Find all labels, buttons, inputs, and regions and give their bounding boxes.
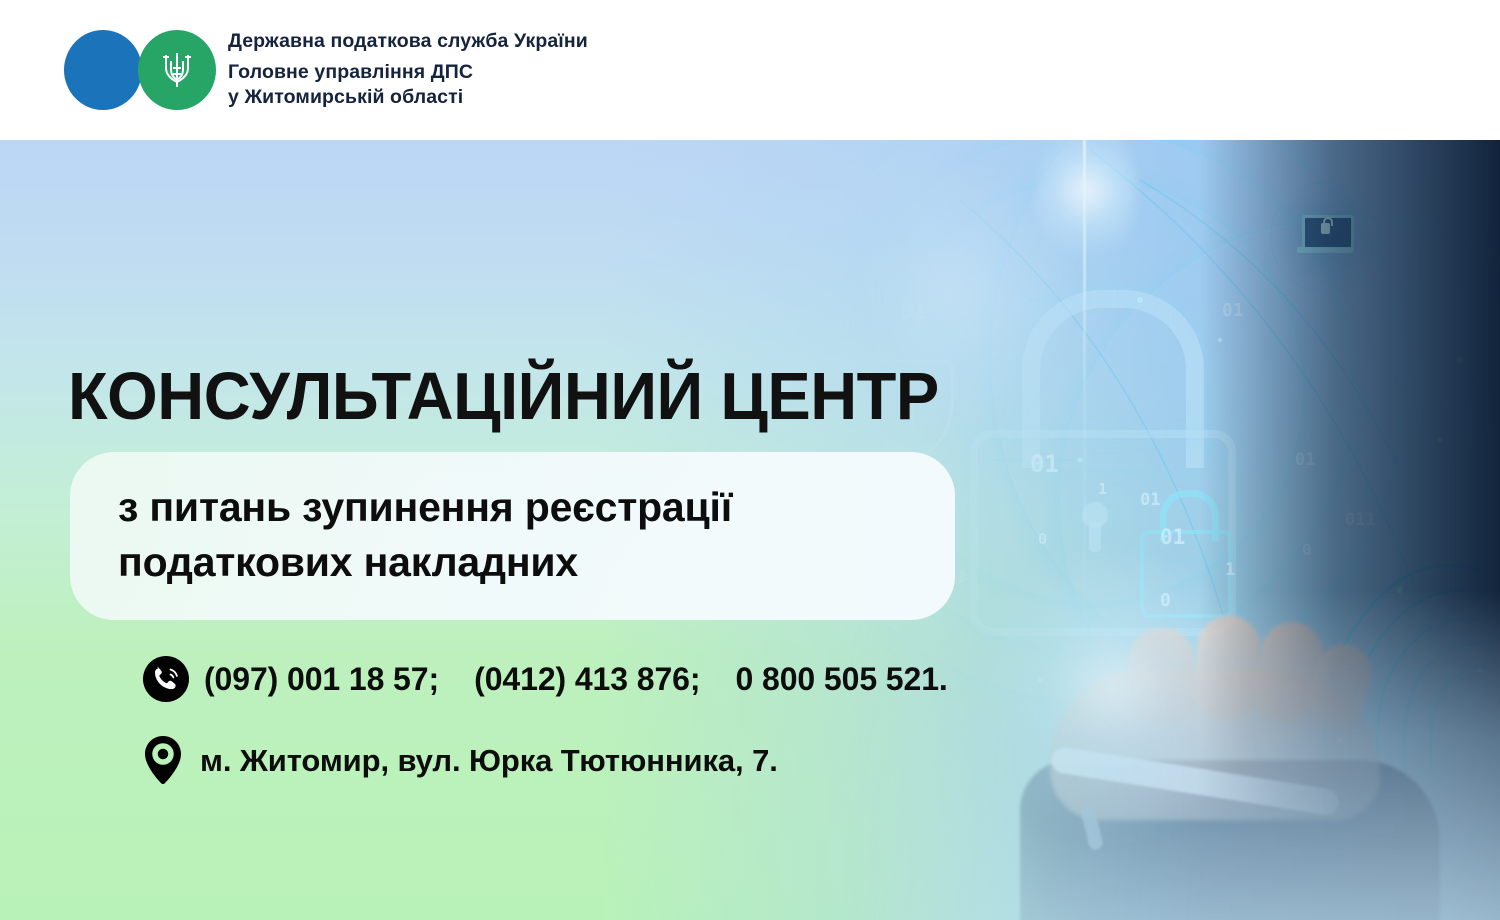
contact-address-row[interactable]: м. Житомир, вул. Юрка Тютюнника, 7.	[142, 735, 778, 787]
phone-numbers: (097) 001 18 57; (0412) 413 876; 0 800 5…	[204, 661, 948, 698]
organization-logo	[64, 30, 214, 110]
organization-name-block: Державна податкова служба України Головн…	[228, 29, 588, 111]
page-title: КОНСУЛЬТАЦІЙНИЙ ЦЕНТР	[68, 358, 939, 435]
org-title-line-1: Державна податкова служба України	[228, 29, 588, 55]
org-title-line-2: Головне управління ДПС	[228, 60, 588, 86]
poster-canvas: 01 01 01 01 1 01 01 011 0 0 1 0 0 0	[0, 140, 1500, 920]
logo-blue-circle-icon	[64, 30, 142, 110]
phone-call-icon	[142, 655, 204, 703]
contact-phone-row[interactable]: (097) 001 18 57; (0412) 413 876; 0 800 5…	[142, 655, 948, 703]
org-title-line-3: у Житомирській області	[228, 85, 588, 111]
ukraine-trident-icon	[160, 48, 194, 92]
logo-green-circle-icon	[138, 30, 216, 110]
header-bar: Державна податкова служба України Головн…	[0, 0, 1500, 140]
subtitle-line-1: з питань зупинення реєстрації	[118, 480, 915, 535]
poster-root: Державна податкова служба України Головн…	[0, 0, 1500, 920]
subtitle-line-2: податкових накладних	[118, 535, 915, 590]
subtitle-card: з питань зупинення реєстрації податкових…	[70, 452, 955, 620]
map-pin-icon	[142, 735, 200, 787]
artwork-bottom-fade	[840, 590, 1500, 920]
address-text: м. Житомир, вул. Юрка Тютюнника, 7.	[200, 743, 778, 779]
